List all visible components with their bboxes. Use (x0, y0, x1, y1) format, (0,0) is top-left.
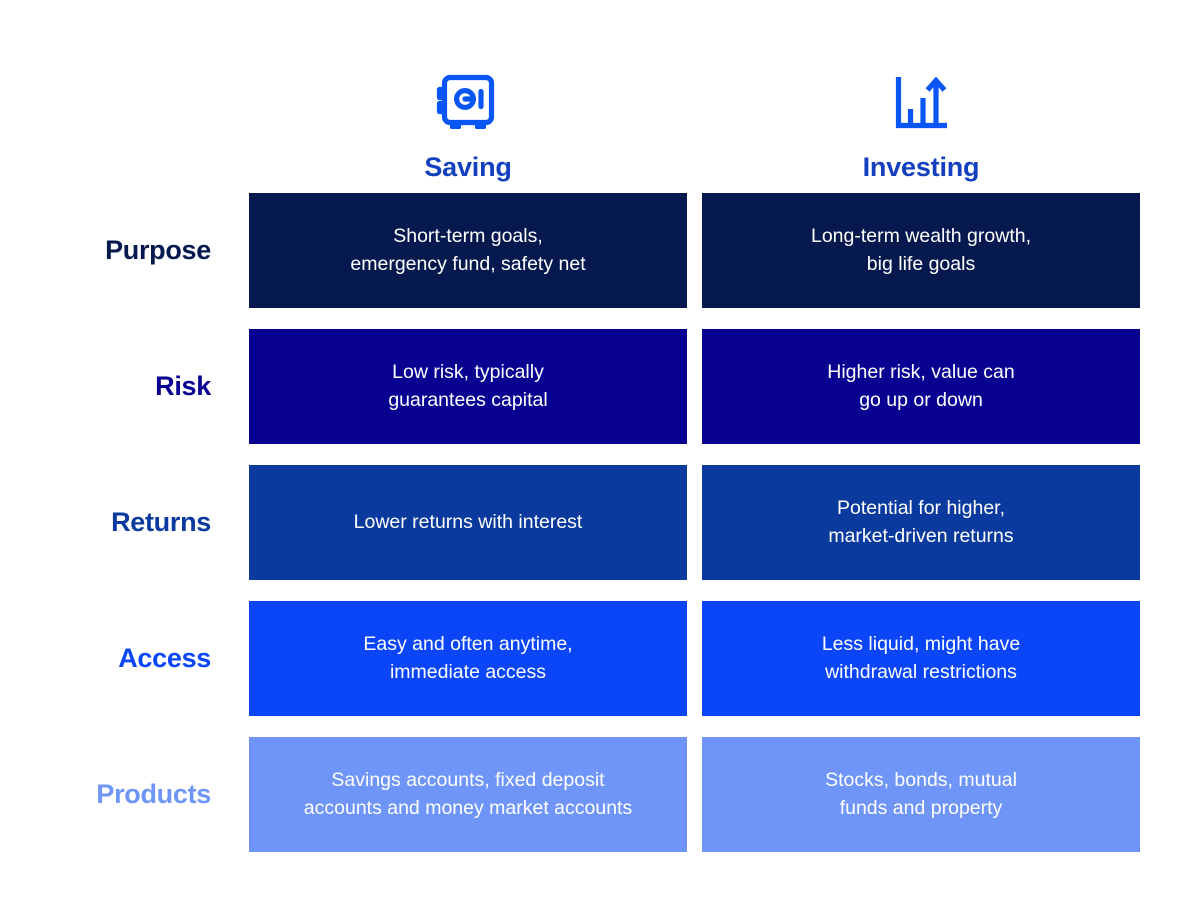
row-label-access: Access (0, 601, 249, 716)
cell-purpose-saving: Short-term goals, emergency fund, safety… (249, 193, 687, 308)
row-cells: Low risk, typically guarantees capital H… (249, 329, 1200, 444)
column-headers: Saving Investing (249, 48, 1140, 181)
cell-purpose-investing: Long-term wealth growth, big life goals (702, 193, 1140, 308)
table-row-risk: Risk Low risk, typically guarantees capi… (0, 329, 1200, 444)
column-header-saving: Saving (249, 48, 687, 181)
column-header-label: Investing (863, 154, 980, 181)
comparison-grid: Purpose Short-term goals, emergency fund… (0, 193, 1200, 852)
row-label-purpose: Purpose (0, 193, 249, 308)
row-label-risk: Risk (0, 329, 249, 444)
comparison-infographic: Saving Investing Purpose (0, 0, 1200, 900)
safe-vault-icon (432, 68, 504, 140)
table-row-products: Products Savings accounts, fixed deposit… (0, 737, 1200, 852)
column-header-investing: Investing (702, 48, 1140, 181)
cell-risk-investing: Higher risk, value can go up or down (702, 329, 1140, 444)
table-row-access: Access Easy and often anytime, immediate… (0, 601, 1200, 716)
cell-returns-saving: Lower returns with interest (249, 465, 687, 580)
row-cells: Savings accounts, fixed deposit accounts… (249, 737, 1200, 852)
cell-access-investing: Less liquid, might have withdrawal restr… (702, 601, 1140, 716)
cell-risk-saving: Low risk, typically guarantees capital (249, 329, 687, 444)
bar-chart-up-arrow-icon (885, 68, 957, 140)
row-label-products: Products (0, 737, 249, 852)
table-row-purpose: Purpose Short-term goals, emergency fund… (0, 193, 1200, 308)
column-header-label: Saving (424, 154, 511, 181)
row-cells: Short-term goals, emergency fund, safety… (249, 193, 1200, 308)
cell-returns-investing: Potential for higher, market-driven retu… (702, 465, 1140, 580)
row-label-returns: Returns (0, 465, 249, 580)
cell-products-saving: Savings accounts, fixed deposit accounts… (249, 737, 687, 852)
row-cells: Lower returns with interest Potential fo… (249, 465, 1200, 580)
row-cells: Easy and often anytime, immediate access… (249, 601, 1200, 716)
cell-access-saving: Easy and often anytime, immediate access (249, 601, 687, 716)
cell-products-investing: Stocks, bonds, mutual funds and property (702, 737, 1140, 852)
table-row-returns: Returns Lower returns with interest Pote… (0, 465, 1200, 580)
